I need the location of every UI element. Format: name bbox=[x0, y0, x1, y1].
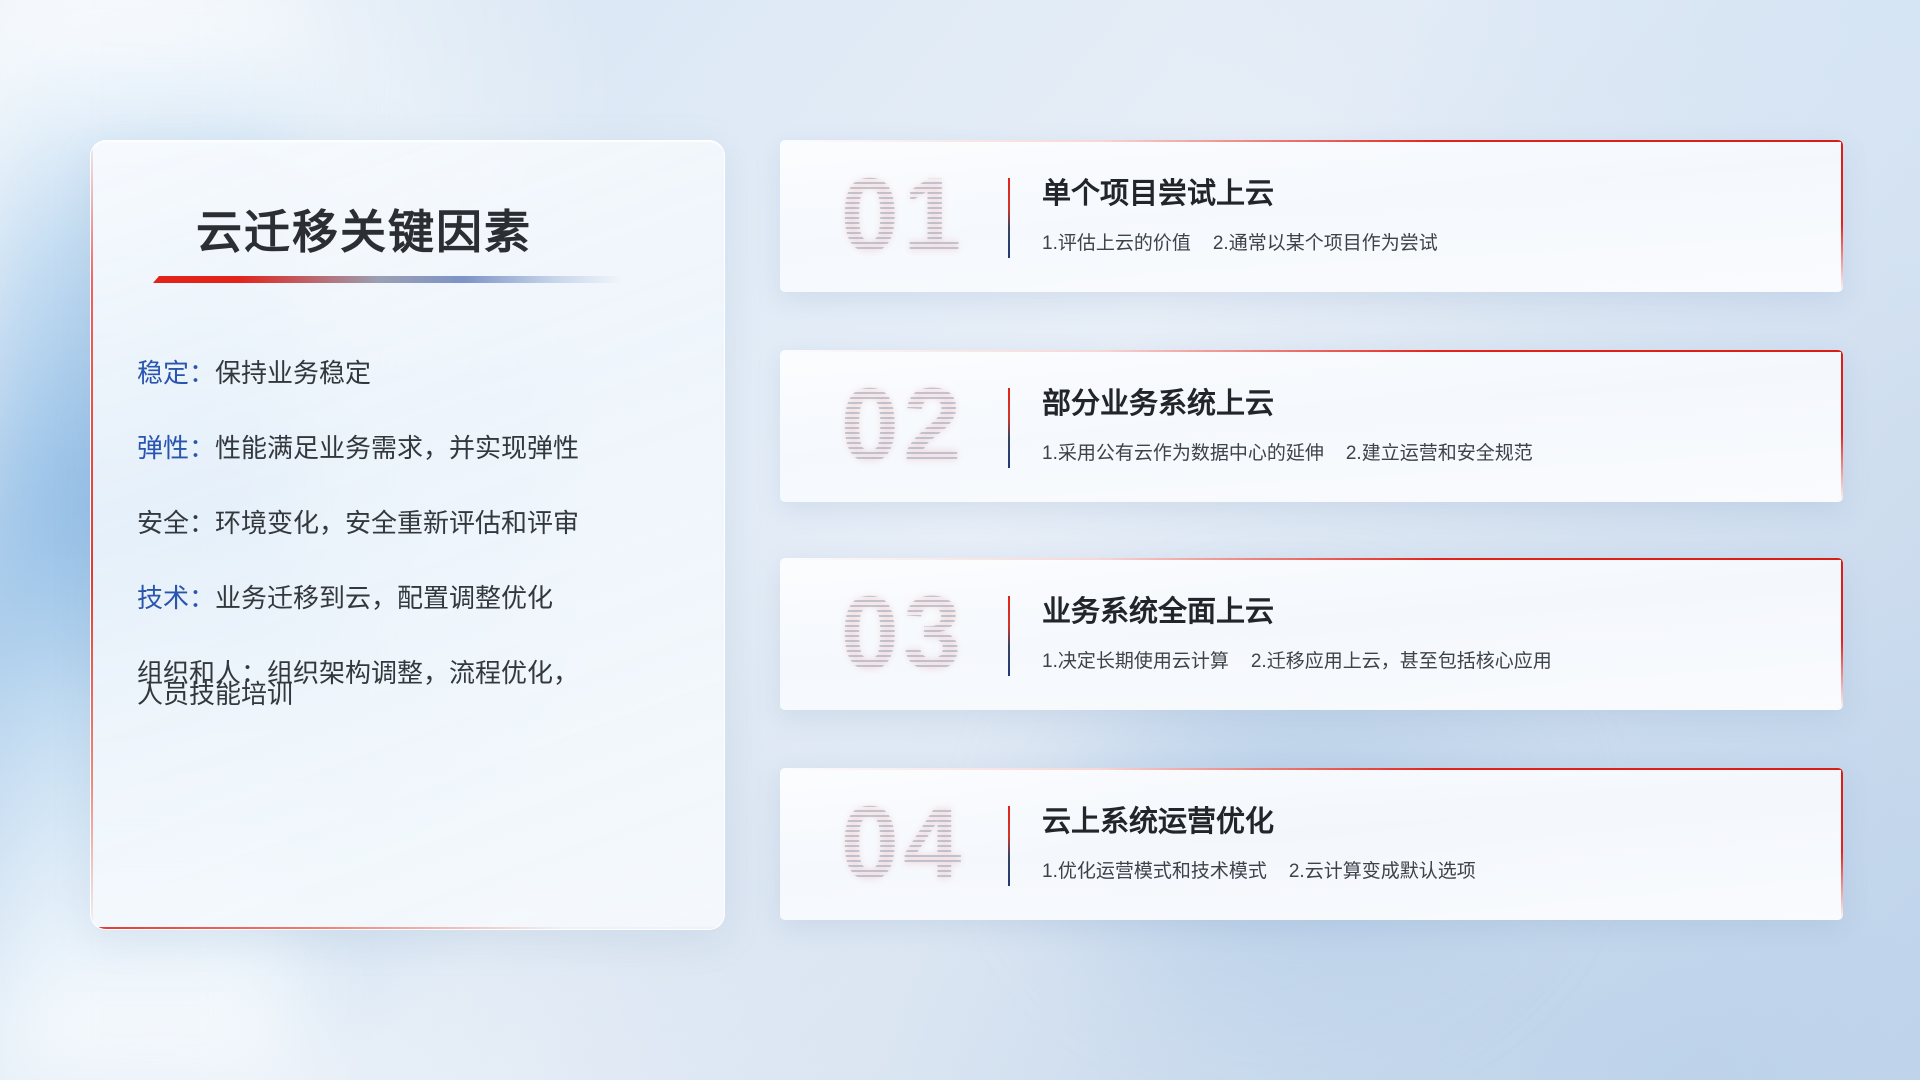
factor-label: 弹性： bbox=[137, 433, 215, 463]
step-desc-part-2: 2.云计算变成默认选项 bbox=[1289, 861, 1476, 882]
step-number: 03 bbox=[808, 570, 998, 698]
step-divider bbox=[1008, 596, 1010, 676]
factor-item-stability: 稳定：保持业务稳定 bbox=[137, 356, 694, 391]
factor-text: 保持业务稳定 bbox=[215, 358, 371, 388]
step-desc-part-2: 2.迁移应用上云，甚至包括核心应用 bbox=[1251, 651, 1552, 672]
step-title: 部分业务系统上云 bbox=[1042, 380, 1274, 422]
step-divider bbox=[1008, 806, 1010, 886]
step-description: 1.评估上云的价值2.通常以某个项目作为尝试 bbox=[1042, 228, 1438, 255]
step-number: 01 bbox=[808, 152, 998, 280]
card-edge-accent bbox=[1841, 350, 1843, 502]
step-desc-part-1: 1.优化运营模式和技术模式 bbox=[1042, 861, 1267, 882]
step-divider bbox=[1008, 178, 1010, 258]
factor-text: 性能满足业务需求，并实现弹性 bbox=[215, 433, 579, 463]
factor-item-organization: 组织和人：组织架构调整，流程优化， 人员技能培训 bbox=[137, 656, 694, 712]
step-desc-part-2: 2.建立运营和安全规范 bbox=[1346, 443, 1533, 464]
step-title: 单个项目尝试上云 bbox=[1042, 170, 1274, 212]
factor-item-security: 安全：环境变化，安全重新评估和评审 bbox=[137, 506, 694, 541]
factor-text: 组织架构调整，流程优化， bbox=[267, 658, 579, 688]
page-title: 云迁移关键因素 bbox=[196, 196, 532, 262]
step-title: 云上系统运营优化 bbox=[1042, 798, 1274, 840]
step-card-01[interactable]: 01 01 单个项目尝试上云 1.评估上云的价值2.通常以某个项目作为尝试 bbox=[780, 140, 1843, 292]
step-desc-part-1: 1.决定长期使用云计算 bbox=[1042, 651, 1229, 672]
card-edge-accent bbox=[1841, 558, 1843, 710]
step-number: 04 bbox=[808, 780, 998, 908]
step-desc-part-1: 1.采用公有云作为数据中心的延伸 bbox=[1042, 443, 1324, 464]
step-card-02[interactable]: 02 02 部分业务系统上云 1.采用公有云作为数据中心的延伸2.建立运营和安全… bbox=[780, 350, 1843, 502]
step-divider bbox=[1008, 388, 1010, 468]
step-description: 1.决定长期使用云计算2.迁移应用上云，甚至包括核心应用 bbox=[1042, 646, 1552, 673]
factor-list: 稳定：保持业务稳定 弹性：性能满足业务需求，并实现弹性 安全：环境变化，安全重新… bbox=[137, 356, 694, 713]
step-title: 业务系统全面上云 bbox=[1042, 588, 1274, 630]
factor-item-technology: 技术：业务迁移到云，配置调整优化 bbox=[137, 581, 694, 616]
factor-item-elasticity: 弹性：性能满足业务需求，并实现弹性 bbox=[137, 431, 694, 466]
card-edge-accent bbox=[1841, 768, 1843, 920]
factor-label: 安全： bbox=[137, 508, 215, 538]
key-factors-panel: 云迁移关键因素 稳定：保持业务稳定 弹性：性能满足业务需求，并实现弹性 安全：环… bbox=[90, 140, 725, 930]
step-desc-part-2: 2.通常以某个项目作为尝试 bbox=[1213, 233, 1438, 254]
step-card-03[interactable]: 03 03 业务系统全面上云 1.决定长期使用云计算2.迁移应用上云，甚至包括核… bbox=[780, 558, 1843, 710]
step-description: 1.采用公有云作为数据中心的延伸2.建立运营和安全规范 bbox=[1042, 438, 1533, 465]
title-underline-rule bbox=[153, 276, 623, 283]
factor-text: 环境变化，安全重新评估和评审 bbox=[215, 508, 579, 538]
slide-stage: 云迁移关键因素 稳定：保持业务稳定 弹性：性能满足业务需求，并实现弹性 安全：环… bbox=[0, 0, 1920, 1080]
step-number: 02 bbox=[808, 362, 998, 490]
step-card-04[interactable]: 04 04 云上系统运营优化 1.优化运营模式和技术模式2.云计算变成默认选项 bbox=[780, 768, 1843, 920]
factor-text: 业务迁移到云，配置调整优化 bbox=[215, 583, 553, 613]
step-desc-part-1: 1.评估上云的价值 bbox=[1042, 233, 1191, 254]
factor-label: 技术： bbox=[137, 583, 215, 613]
card-edge-accent bbox=[1841, 140, 1843, 292]
factor-label: 稳定： bbox=[137, 358, 215, 388]
step-description: 1.优化运营模式和技术模式2.云计算变成默认选项 bbox=[1042, 856, 1476, 883]
